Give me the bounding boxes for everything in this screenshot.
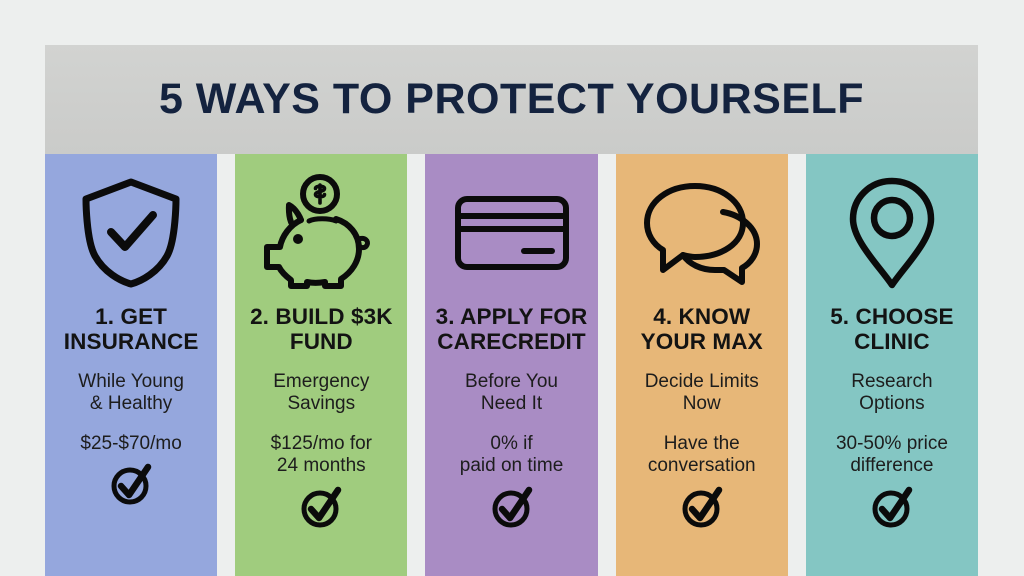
columns-container: 1. GET INSURANCE While Young & Healthy $… [45,154,978,576]
column-subtitle: Research Options [849,371,934,415]
shield-check-icon [45,154,217,304]
location-pin-icon [806,154,978,304]
title-banner: 5 WAYS TO PROTECT YOURSELF [45,45,978,154]
column-heading: 1. GET INSURANCE [45,304,217,354]
column-detail: 30-50% price difference [834,433,950,477]
column-heading: 3. APPLY FOR CARECREDIT [425,304,597,354]
circle-check-icon [680,485,724,529]
circle-check-icon [299,485,343,529]
column-detail: Have the conversation [646,433,758,477]
circle-check-icon [490,485,534,529]
column-know-your-max[interactable]: 4. KNOW YOUR MAX Decide Limits Now Have … [616,154,788,576]
column-heading: 2. BUILD $3K FUND [235,304,407,354]
piggy-bank-icon [235,154,407,304]
column-build-fund[interactable]: 2. BUILD $3K FUND Emergency Savings $125… [235,154,407,576]
column-heading: 5. CHOOSE CLINIC [806,304,978,354]
column-subtitle: While Young & Healthy [76,371,186,415]
infographic-canvas: 5 WAYS TO PROTECT YOURSELF 1. GET INSURA… [0,0,1024,576]
page-title: 5 WAYS TO PROTECT YOURSELF [159,78,864,121]
circle-check-icon [109,462,153,506]
column-apply-carecredit[interactable]: 3. APPLY FOR CARECREDIT Before You Need … [425,154,597,576]
column-detail: $25-$70/mo [78,433,183,455]
circle-check-icon [870,485,914,529]
column-detail: $125/mo for 24 months [269,433,374,477]
speech-bubbles-icon [616,154,788,304]
column-subtitle: Before You Need It [463,371,560,415]
credit-card-icon [425,154,597,304]
column-detail: 0% if paid on time [458,433,566,477]
column-subtitle: Emergency Savings [271,371,371,415]
column-subtitle: Decide Limits Now [643,371,761,415]
column-heading: 4. KNOW YOUR MAX [616,304,788,354]
column-get-insurance[interactable]: 1. GET INSURANCE While Young & Healthy $… [45,154,217,576]
column-choose-clinic[interactable]: 5. CHOOSE CLINIC Research Options 30-50%… [806,154,978,576]
